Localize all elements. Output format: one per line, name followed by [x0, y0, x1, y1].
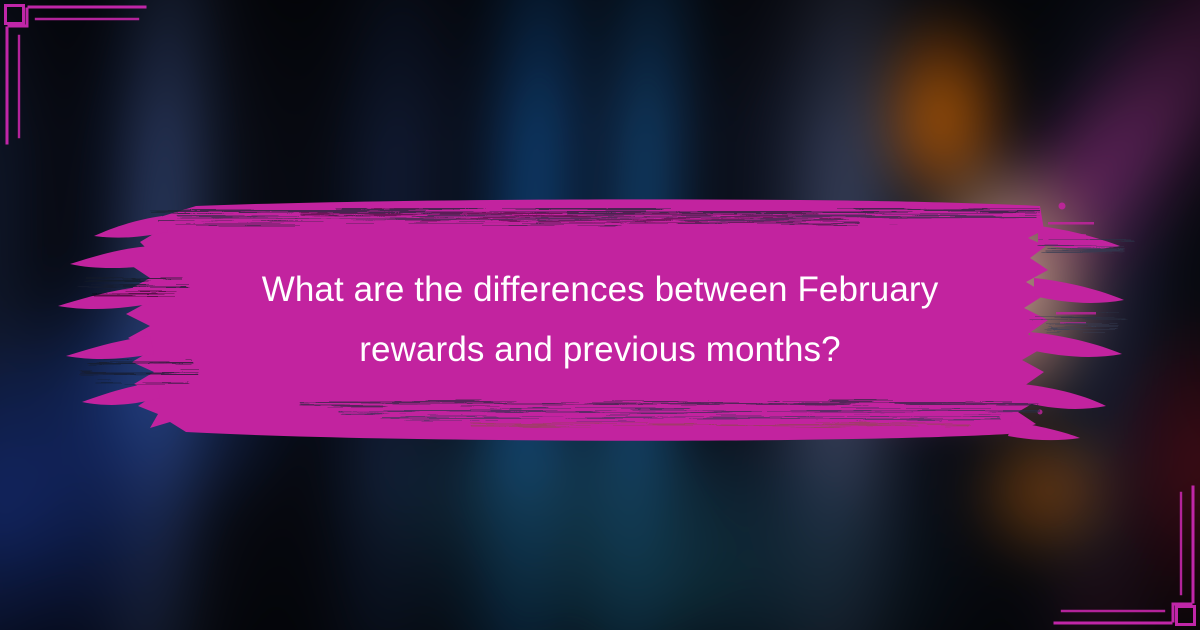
- bottom-right-corner-frame: [1040, 470, 1200, 630]
- brush-body: [58, 199, 1124, 440]
- top-left-corner-frame: [0, 0, 160, 160]
- brush-stroke-banner: [0, 186, 1200, 454]
- question-card: What are the differences between Februar…: [0, 0, 1200, 630]
